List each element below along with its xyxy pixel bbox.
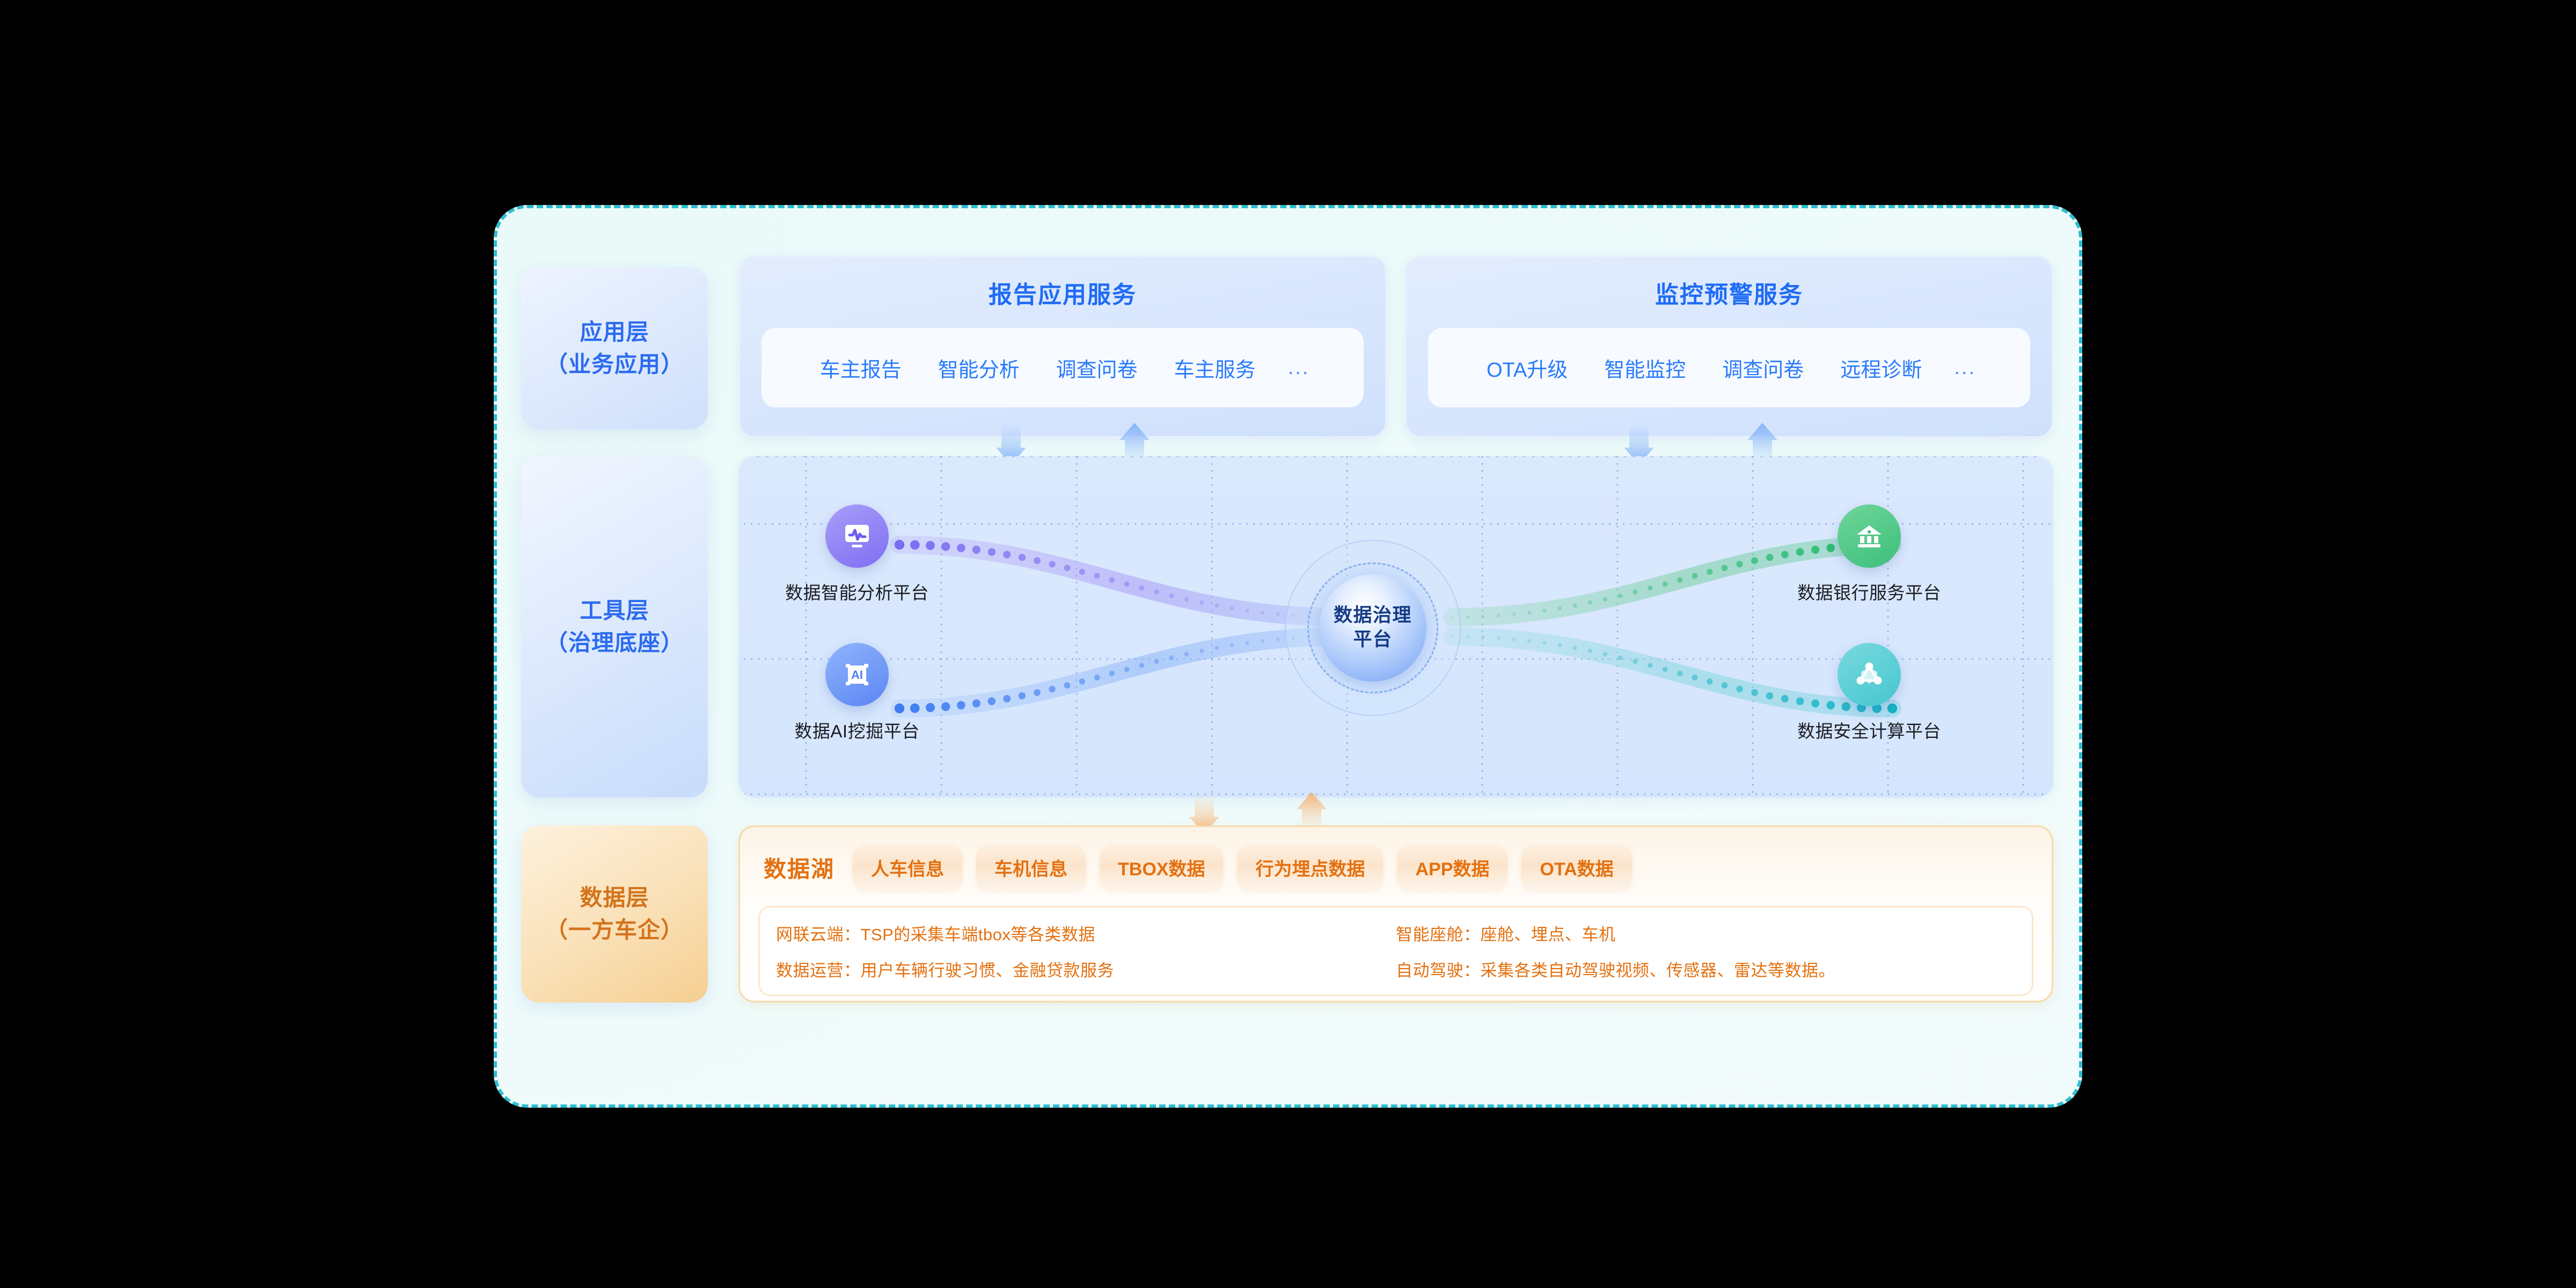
rail-item-tool-layer[interactable]: 工具层 （治理底座） xyxy=(521,456,708,797)
rail-label-line2: （一方车企） xyxy=(545,914,684,946)
rail-item-application-layer[interactable]: 应用层 （业务应用） xyxy=(521,267,708,429)
service-item[interactable]: 车主服务 xyxy=(1156,353,1274,383)
rail-label-line1: 数据层 xyxy=(580,882,649,914)
hub-label-line1: 数据治理 xyxy=(1334,604,1412,628)
data-lake-details: 网联云端：TSP的采集车端tbox等各类数据 数据运营：用户车辆行驶习惯、金融贷… xyxy=(758,906,2033,996)
data-lake-detail-line: 智能座舱：座舱、埋点、车机 xyxy=(1396,921,2016,945)
data-lake-detail-line: 自动驾驶：采集各类自动驾驶视频、传感器、雷达等数据。 xyxy=(1396,957,2016,981)
platform-node-label: 数据AI挖掘平台 xyxy=(769,717,946,743)
rail-label-line1: 工具层 xyxy=(580,595,649,627)
data-lake-tag[interactable]: 人车信息 xyxy=(853,845,962,890)
bank-icon xyxy=(1838,504,1901,568)
data-lake-details-right: 智能座舱：座舱、埋点、车机 自动驾驶：采集各类自动驾驶视频、传感器、雷达等数据。 xyxy=(1396,921,2016,980)
service-card-title: 监控预警服务 xyxy=(1428,275,2030,310)
service-item[interactable]: OTA升级 xyxy=(1468,353,1586,383)
data-lake-tag[interactable]: 行为埋点数据 xyxy=(1237,845,1383,890)
platform-node-label: 数据银行服务平台 xyxy=(1781,579,1958,604)
service-card-monitor[interactable]: 监控预警服务 OTA升级 智能监控 调查问卷 远程诊断 ... xyxy=(1405,255,2053,438)
rail-label-line2: （治理底座） xyxy=(545,627,684,659)
data-lake-details-left: 网联云端：TSP的采集车端tbox等各类数据 数据运营：用户车辆行驶习惯、金融贷… xyxy=(776,921,1396,980)
ai-chip-icon: AI xyxy=(825,643,889,706)
service-card-title: 报告应用服务 xyxy=(762,275,1364,310)
rail-item-data-layer[interactable]: 数据层 （一方车企） xyxy=(521,825,708,1002)
service-item-more[interactable]: ... xyxy=(1940,356,1990,379)
hub-core: 数据治理 平台 xyxy=(1319,574,1426,682)
application-layer-panel: 报告应用服务 车主报告 智能分析 调查问卷 车主服务 ... 监控预警服务 OT… xyxy=(738,255,2053,438)
data-lake-tag[interactable]: OTA数据 xyxy=(1521,845,1631,890)
service-item[interactable]: 智能分析 xyxy=(920,353,1038,383)
monitor-pulse-icon xyxy=(825,504,889,568)
service-item[interactable]: 调查问卷 xyxy=(1704,353,1822,383)
service-item[interactable]: 车主报告 xyxy=(802,353,920,383)
shield-network-icon xyxy=(1838,643,1901,706)
rail-label-line2: （业务应用） xyxy=(545,348,684,380)
data-lake-tag[interactable]: TBOX数据 xyxy=(1100,845,1223,890)
platform-node-ai[interactable]: AI 数据AI挖掘平台 xyxy=(769,643,946,743)
service-item-row: OTA升级 智能监控 调查问卷 远程诊断 ... xyxy=(1428,328,2030,407)
service-item[interactable]: 调查问卷 xyxy=(1038,353,1156,383)
data-lake-detail-line: 网联云端：TSP的采集车端tbox等各类数据 xyxy=(776,921,1396,945)
platform-node-label: 数据安全计算平台 xyxy=(1781,717,1958,743)
service-item-row: 车主报告 智能分析 调查问卷 车主服务 ... xyxy=(762,328,1364,407)
platform-node-analysis[interactable]: 数据智能分析平台 xyxy=(769,504,946,604)
data-lake-tag[interactable]: APP数据 xyxy=(1397,845,1507,890)
service-item[interactable]: 远程诊断 xyxy=(1822,353,1940,383)
data-lake-panel: 数据湖 人车信息 车机信息 TBOX数据 行为埋点数据 APP数据 OTA数据 … xyxy=(738,825,2053,1002)
service-item[interactable]: 智能监控 xyxy=(1586,353,1704,383)
architecture-diagram: 应用层 （业务应用） 工具层 （治理底座） 数据层 （一方车企） 报告应用服务 … xyxy=(494,205,2082,1108)
rail-label-line1: 应用层 xyxy=(580,316,649,348)
hub-label-line2: 平台 xyxy=(1353,628,1392,652)
svg-text:AI: AI xyxy=(851,668,863,682)
platform-node-bank[interactable]: 数据银行服务平台 xyxy=(1781,504,1958,604)
data-lake-detail-line: 数据运营：用户车辆行驶习惯、金融贷款服务 xyxy=(776,957,1396,981)
platform-node-security[interactable]: 数据安全计算平台 xyxy=(1781,643,1958,743)
service-card-report[interactable]: 报告应用服务 车主报告 智能分析 调查问卷 车主服务 ... xyxy=(738,255,1387,438)
platform-node-label: 数据智能分析平台 xyxy=(769,579,946,604)
service-item-more[interactable]: ... xyxy=(1274,356,1324,379)
data-lake-tag[interactable]: 车机信息 xyxy=(976,845,1086,890)
tool-layer-panel: 数据治理 平台 数据智能分析平台 xyxy=(738,456,2053,797)
data-lake-header: 数据湖 人车信息 车机信息 TBOX数据 行为埋点数据 APP数据 OTA数据 xyxy=(740,827,2052,890)
central-hub[interactable]: 数据治理 平台 xyxy=(1300,555,1446,701)
data-lake-title: 数据湖 xyxy=(764,851,835,884)
